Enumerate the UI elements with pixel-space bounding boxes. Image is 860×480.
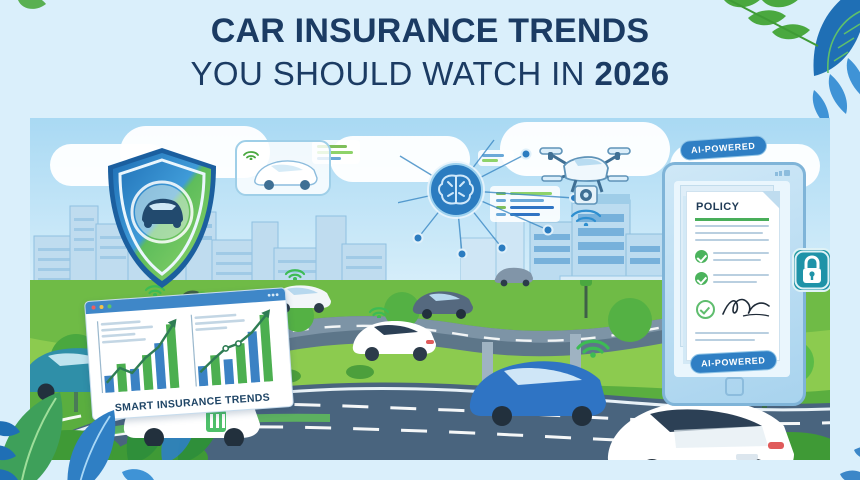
title-line-2-text: YOU SHOULD WATCH IN (190, 55, 594, 92)
road-vehicle-blue-car (460, 354, 610, 426)
tablet-screen: POLICY (674, 181, 790, 377)
title-year: 2026 (595, 55, 670, 92)
infographic-canvas: CAR INSURANCE TRENDS YOU SHOULD WATCH IN… (0, 0, 860, 480)
status-bar-icon (775, 170, 791, 177)
policy-underline (695, 218, 769, 221)
road-vehicle-grey-car-ramp (492, 264, 536, 288)
drone-icon[interactable] (530, 136, 640, 226)
leaf-cluster-icon (718, 0, 860, 118)
policy-check-ring (696, 300, 715, 319)
road-vehicle-white-suv (346, 314, 442, 362)
policy-check-2 (695, 272, 708, 285)
close-dot[interactable] (91, 305, 95, 309)
wifi-icon (574, 328, 612, 358)
lock-icon[interactable] (792, 248, 830, 292)
leaf-cluster-icon (780, 420, 860, 480)
policy-tablet[interactable]: POLICY (642, 140, 827, 425)
connected-car-icon (251, 156, 321, 190)
wifi-icon (282, 260, 308, 280)
home-button[interactable] (725, 377, 744, 396)
leaf-cluster-icon (0, 374, 164, 480)
leaf-cluster-icon (0, 0, 60, 40)
trend-chart-2 (190, 307, 285, 387)
minimize-dot[interactable] (99, 305, 103, 309)
wifi-icon (366, 298, 392, 318)
maximize-dot[interactable] (107, 304, 111, 308)
policy-title: POLICY (696, 201, 739, 213)
connected-car-card[interactable] (235, 140, 331, 196)
shield-car-icon[interactable] (102, 146, 222, 292)
signature-icon (721, 294, 773, 320)
policy-document[interactable]: POLICY (686, 191, 780, 361)
policy-check-1 (695, 250, 708, 263)
page-fold-icon (762, 191, 780, 209)
ellipsis-icon[interactable] (267, 293, 279, 298)
